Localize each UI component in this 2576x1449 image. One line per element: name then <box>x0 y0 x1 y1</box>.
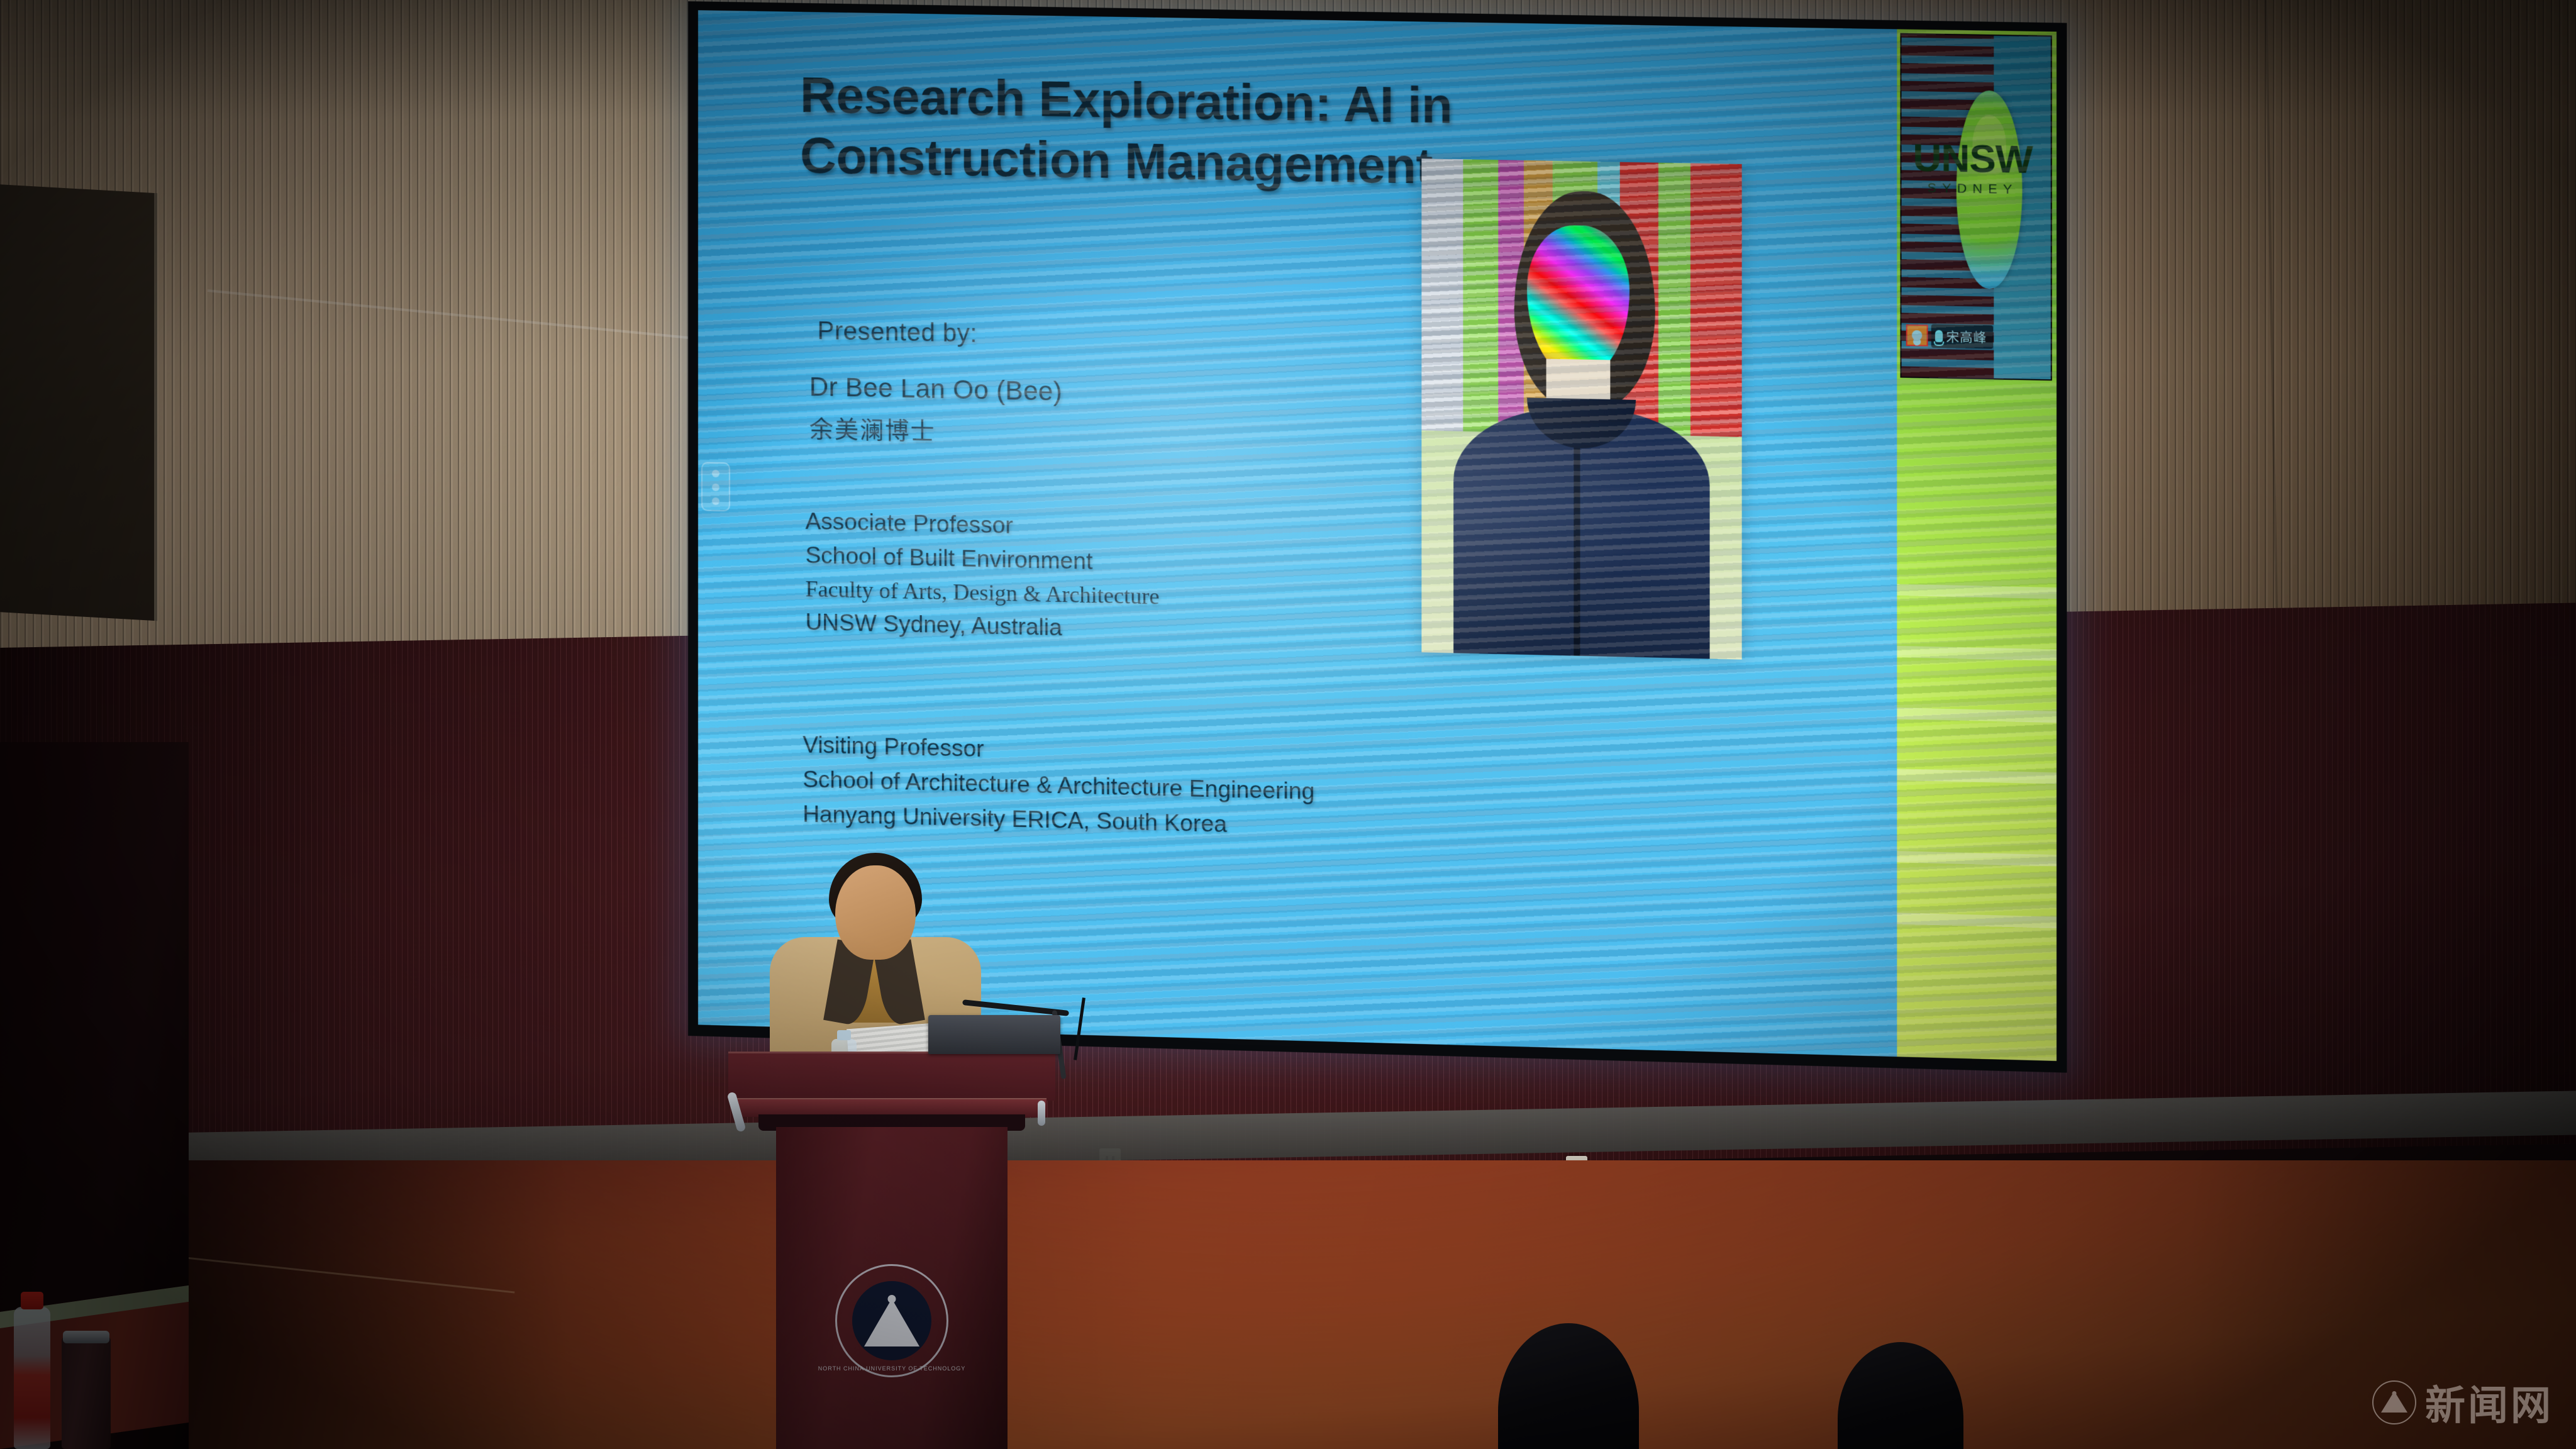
presented-by-label: Presented by: <box>818 317 977 348</box>
microphone-icon <box>1935 330 1943 342</box>
vc-participant-name: 宋高峰 <box>1946 327 1987 347</box>
foreground-thermos <box>62 1337 111 1449</box>
foreground-water-bottle <box>14 1307 50 1449</box>
speaker-face <box>835 865 916 960</box>
university-emblem-icon: NORTH CHINA UNIVERSITY OF TECHNOLOGY <box>835 1264 948 1377</box>
watermark-seal-icon <box>2372 1380 2416 1424</box>
watermark-text: 新闻网 <box>2425 1374 2553 1431</box>
podium-laptop[interactable] <box>928 1015 1060 1054</box>
lectern-podium: NORTH CHINA UNIVERSITY OF TECHNOLOGY <box>728 1052 1055 1449</box>
floor-shadow-overlay <box>0 1160 2576 1449</box>
screen-edge-handle-icon[interactable] <box>701 462 730 511</box>
presenter-portrait-photo <box>1421 158 1742 660</box>
unsw-logo-sub: SYDNEY <box>1900 180 2046 198</box>
unsw-logo: UNSW SYDNEY <box>1900 138 2046 198</box>
user-avatar-icon <box>1906 325 1928 347</box>
wall-recess-panel <box>0 184 157 621</box>
lecture-hall-scene: Research Exploration: AI in Construction… <box>0 0 2576 1449</box>
primary-affiliation-block: Associate Professor School of Built Envi… <box>806 504 1160 647</box>
video-conference-thumbnail[interactable]: 宋高峰 <box>1901 33 2052 380</box>
secondary-affiliation-block: Visiting Professor School of Architectur… <box>802 728 1314 843</box>
podium-rail-right <box>1038 1101 1045 1126</box>
vc-name-bar: 宋高峰 <box>1906 308 1994 365</box>
unsw-logo-main: UNSW <box>1900 138 2046 180</box>
podium-top-surface <box>728 1052 1055 1101</box>
news-watermark: 新闻网 <box>2372 1374 2553 1431</box>
emblem-mountain-mark <box>852 1281 931 1360</box>
podium-column: NORTH CHINA UNIVERSITY OF TECHNOLOGY <box>776 1127 1008 1449</box>
vc-name-tag: 宋高峰 <box>1931 324 1994 348</box>
presenter-name-chinese: 余美澜博士 <box>809 409 936 447</box>
presenter-name-english: Dr Bee Lan Oo (Bee) <box>809 372 1062 407</box>
emblem-institution-text: NORTH CHINA UNIVERSITY OF TECHNOLOGY <box>818 1365 966 1372</box>
